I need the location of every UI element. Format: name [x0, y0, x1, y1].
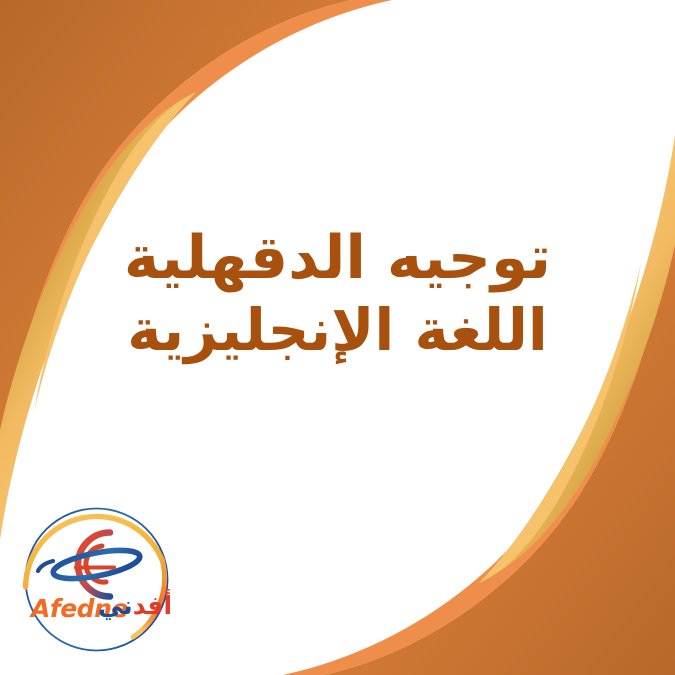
page-title: توجيه الدقهلية اللغة الإنجليزية — [0, 222, 675, 366]
title-line-2: اللغة الإنجليزية — [0, 295, 675, 366]
logo-svg — [14, 497, 179, 662]
afedne-logo[interactable]: Afedne أفدني — [14, 497, 179, 662]
title-line-1: توجيه الدقهلية — [0, 222, 675, 295]
cover-canvas: توجيه الدقهلية اللغة الإنجليزية — [0, 0, 675, 675]
